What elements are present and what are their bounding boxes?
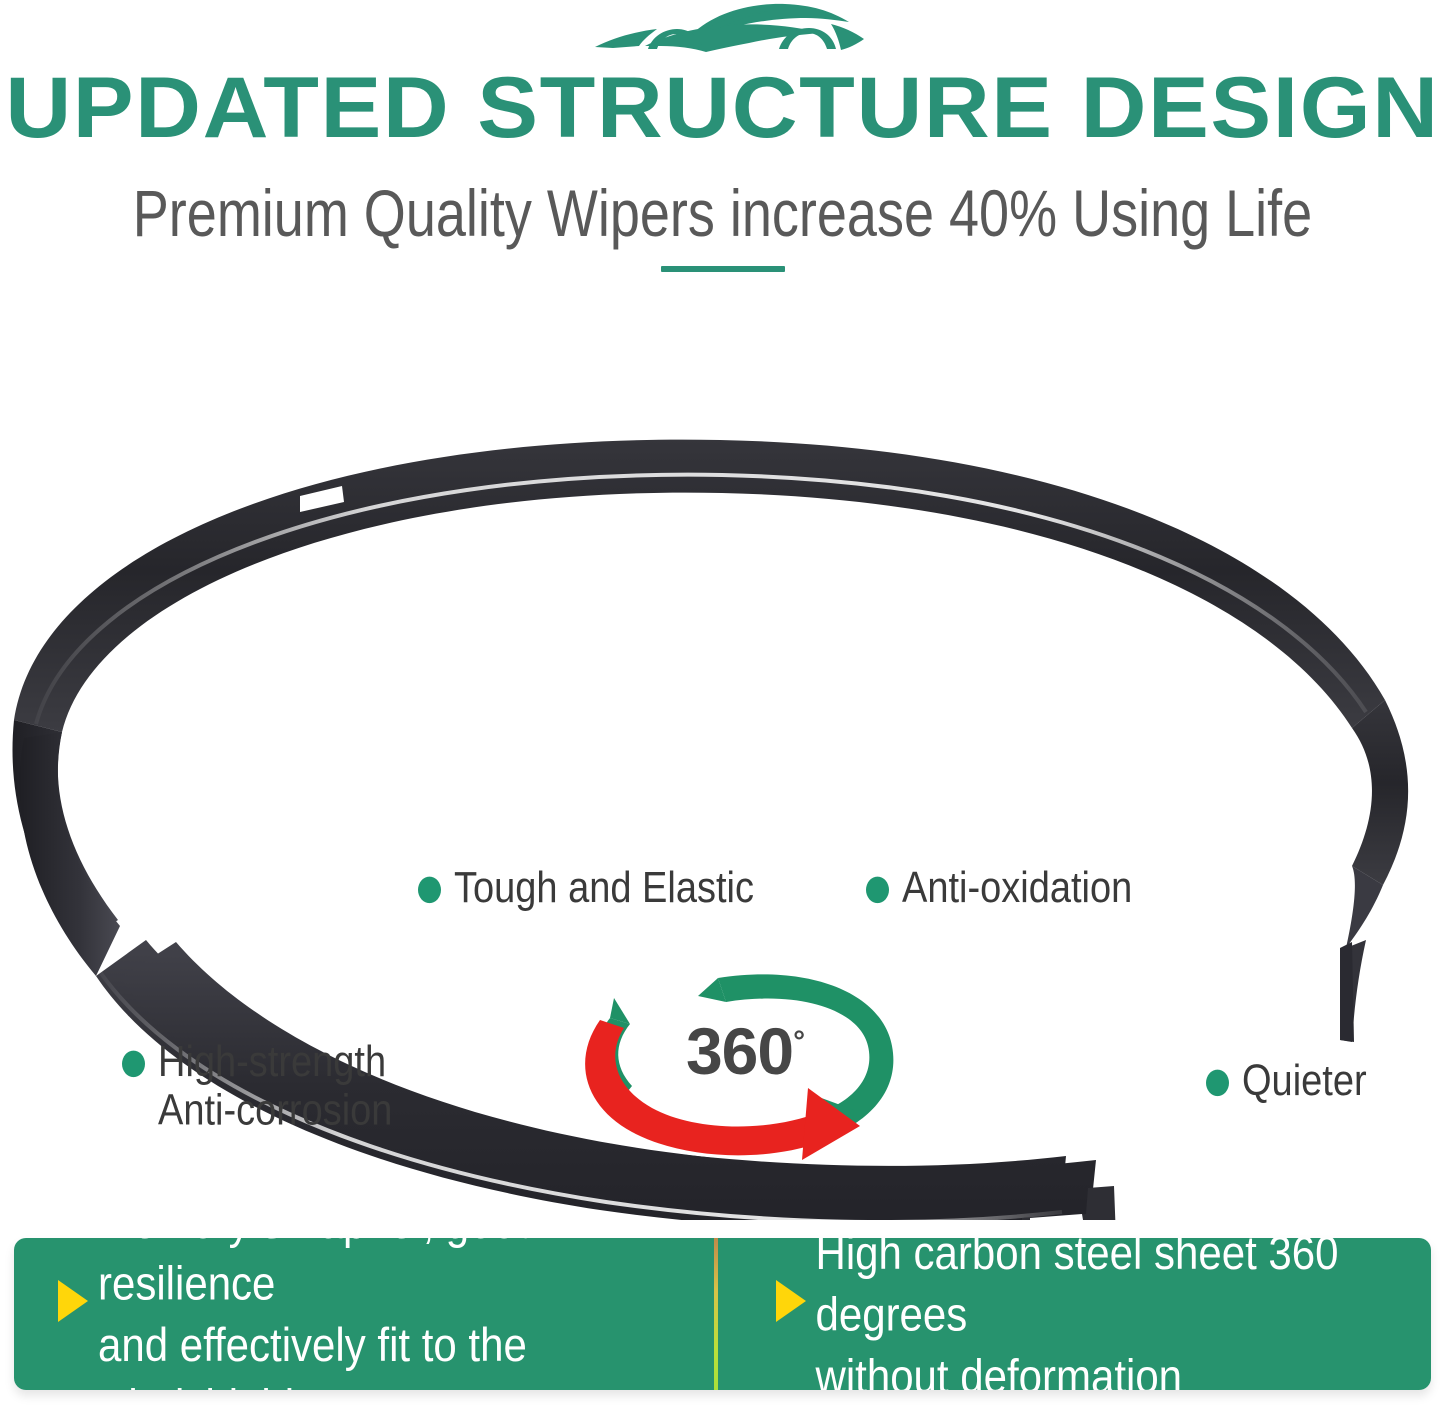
bullet-dot-icon: [418, 877, 441, 903]
title-divider: [661, 266, 785, 272]
feature-label-text: Tough and Elastic: [454, 864, 754, 912]
car-silhouette-logo-icon: [573, 2, 873, 64]
badge-360-value: 360°: [570, 1016, 920, 1086]
product-stage: 360° Tough and Elastic Anti-oxidation Hi…: [0, 300, 1445, 1220]
banner-item-text: Memory shrapnel, good resilience and eff…: [98, 1238, 700, 1390]
feature-label-quieter: Quieter: [1206, 1057, 1367, 1105]
feature-label-text: High-strength Anti-corrosion: [158, 1038, 392, 1135]
banner-item-memory-shrapnel: Memory shrapnel, good resilience and eff…: [14, 1238, 714, 1390]
banner-item-high-carbon-steel: High carbon steel sheet 360 degrees with…: [718, 1238, 1432, 1390]
feature-label-anti-oxidation: Anti-oxidation: [866, 864, 1132, 912]
bullet-dot-icon: [866, 877, 889, 903]
triangle-bullet-icon: [58, 1280, 88, 1322]
banner-item-text: High carbon steel sheet 360 degrees with…: [816, 1238, 1418, 1390]
feature-label-high-strength-anti-corrosion: High-strength Anti-corrosion: [122, 1038, 392, 1135]
triangle-bullet-icon: [776, 1280, 806, 1322]
header: UPDATED STRUCTURE DESIGN Premium Quality…: [0, 0, 1445, 300]
feature-label-tough-and-elastic: Tough and Elastic: [418, 864, 754, 912]
page-subtitle: Premium Quality Wipers increase 40% Usin…: [0, 176, 1445, 252]
bullet-dot-icon: [1206, 1070, 1229, 1096]
badge-360-number: 360: [686, 1014, 793, 1088]
bottom-banner: Memory shrapnel, good resilience and eff…: [14, 1238, 1431, 1390]
feature-label-text: Anti-oxidation: [902, 864, 1132, 912]
bullet-dot-icon: [122, 1051, 145, 1077]
page-title: UPDATED STRUCTURE DESIGN: [0, 62, 1445, 154]
feature-label-text: Quieter: [1242, 1057, 1367, 1105]
badge-360: 360°: [570, 954, 920, 1169]
badge-360-degree-symbol: °: [793, 1025, 804, 1058]
